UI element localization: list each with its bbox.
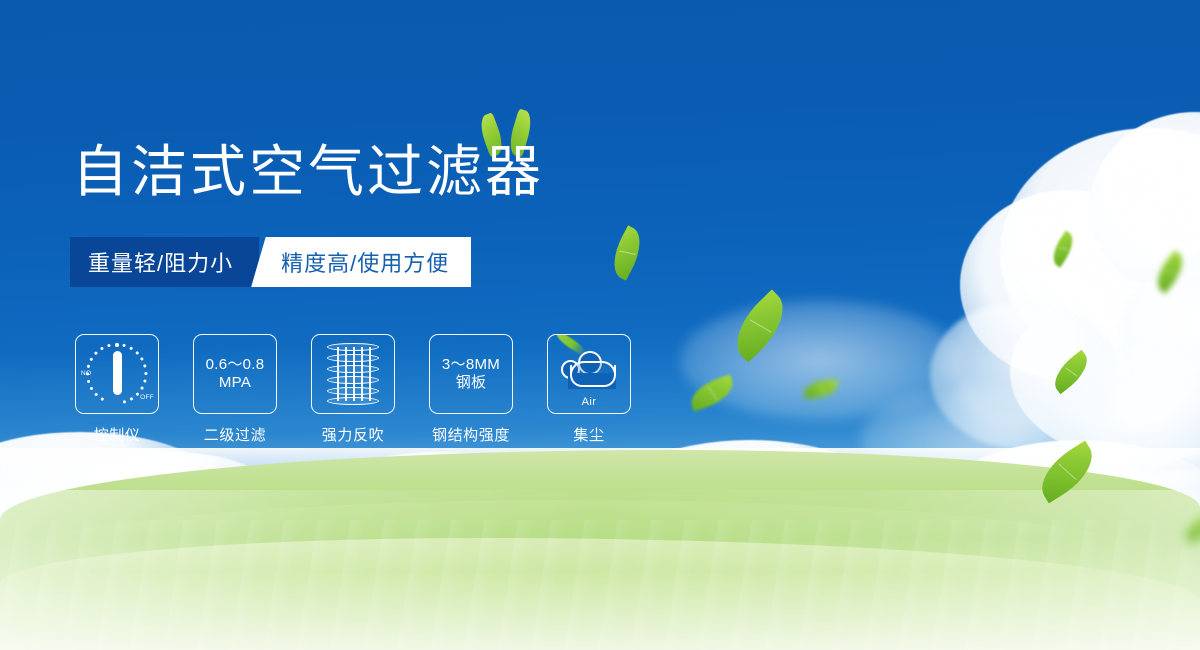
feature-label-controller: 控制仪 (72, 424, 162, 445)
air-cloud-icon: Air (556, 343, 622, 405)
leaf-icon (1031, 441, 1103, 504)
gauge-label-no: NO (81, 370, 91, 377)
feature-label-dust-collection: 集尘 (544, 424, 634, 445)
subtitle-badge-bar: 重量轻/阻力小 精度高/使用方便 (70, 237, 471, 287)
feature-label-steel-strength: 钢结构强度 (426, 424, 516, 445)
feature-box-pressure: 0.6～0.8 MPA (193, 334, 277, 414)
subtitle-badge-right: 精度高/使用方便 (277, 237, 471, 287)
feature-label-back-blow: 强力反吹 (308, 424, 398, 445)
air-label: Air (556, 396, 622, 408)
pressure-value: 0.6～0.8 (206, 356, 265, 374)
cloud-right-e (1120, 250, 1200, 420)
cloud-right-main (1000, 128, 1200, 378)
cloud-right-d (930, 300, 1120, 450)
feature-box-dust: Air (547, 334, 631, 414)
grass-mid (0, 500, 1200, 650)
horizon-cloud-4 (300, 452, 575, 577)
horizon-cloud-3 (150, 470, 400, 575)
leaf-icon (723, 289, 797, 362)
horizon-cloud-6 (600, 440, 900, 580)
leaf-icon (804, 379, 839, 398)
cloud-wisp-right (860, 386, 1120, 496)
horizon-puff-1 (560, 496, 680, 568)
leaf-icon (1047, 350, 1095, 394)
feature-item-steel-strength[interactable]: 3～8MM 钢板 钢结构强度 (426, 334, 516, 445)
feature-box-steel: 3～8MM 钢板 (429, 334, 513, 414)
steel-plate-text-icon: 3～8MM 钢板 (442, 356, 500, 393)
horizon-cloud-1 (0, 432, 230, 567)
horizon-puff-3 (860, 500, 970, 568)
leaf-icon (1149, 250, 1190, 293)
steel-material: 钢板 (442, 374, 500, 392)
pressure-text-icon: 0.6～0.8 MPA (206, 356, 265, 393)
steel-thickness: 3～8MM (442, 356, 500, 374)
page-title: 自洁式空气过滤器 (72, 142, 544, 201)
horizon-cloud-9 (1080, 470, 1200, 585)
grass-near (0, 538, 1200, 650)
gauge-label-off: OFF (140, 394, 154, 401)
cloud-base (570, 365, 616, 387)
cloud-wisp-center (680, 300, 960, 420)
horizon-wisp (120, 492, 360, 588)
horizon-cloud-5 (452, 468, 697, 578)
grass-texture (0, 520, 1200, 650)
leaf-icon (1047, 230, 1079, 267)
feature-item-two-stage-filter[interactable]: 0.6～0.8 MPA 二级过滤 (190, 334, 280, 445)
feature-label-two-stage-filter: 二级过滤 (190, 424, 280, 445)
cloud-right-a (960, 190, 1175, 380)
feature-list: NO OFF 控制仪 0.6～0.8 MPA 二级过滤 (72, 334, 634, 445)
subtitle-badge-left: 重量轻/阻力小 (70, 237, 259, 287)
leaf-icon (605, 225, 650, 280)
cloud-right-f (1050, 340, 1200, 490)
horizon-cloud-2 (58, 452, 288, 567)
gauge-icon: NO OFF (82, 341, 152, 407)
gauge-needle (113, 351, 122, 395)
product-banner: 自洁式空气过滤器 重量轻/阻力小 精度高/使用方便 (0, 0, 1200, 650)
feature-box-controller: NO OFF (75, 334, 159, 414)
filter-cartridge-icon (327, 343, 379, 405)
leaf-icon (1181, 512, 1200, 544)
horizon-cloud-7 (790, 462, 1050, 582)
feature-box-back-blow (311, 334, 395, 414)
horizon-puff-2 (700, 506, 796, 568)
feature-item-controller[interactable]: NO OFF 控制仪 (72, 334, 162, 445)
horizon-puff-4 (245, 492, 345, 556)
feature-item-dust-collection[interactable]: Air 集尘 (544, 334, 634, 445)
horizon-cloud-8 (930, 440, 1200, 585)
grass-sheen (0, 490, 1200, 650)
ground-haze (0, 448, 1200, 518)
leaf-icon (686, 374, 737, 411)
cloud-right-c (1010, 282, 1200, 462)
cloud-right-b (1090, 112, 1200, 302)
feature-item-back-blow[interactable]: 强力反吹 (308, 334, 398, 445)
pressure-unit: MPA (206, 374, 265, 392)
grass-far (0, 450, 1200, 650)
